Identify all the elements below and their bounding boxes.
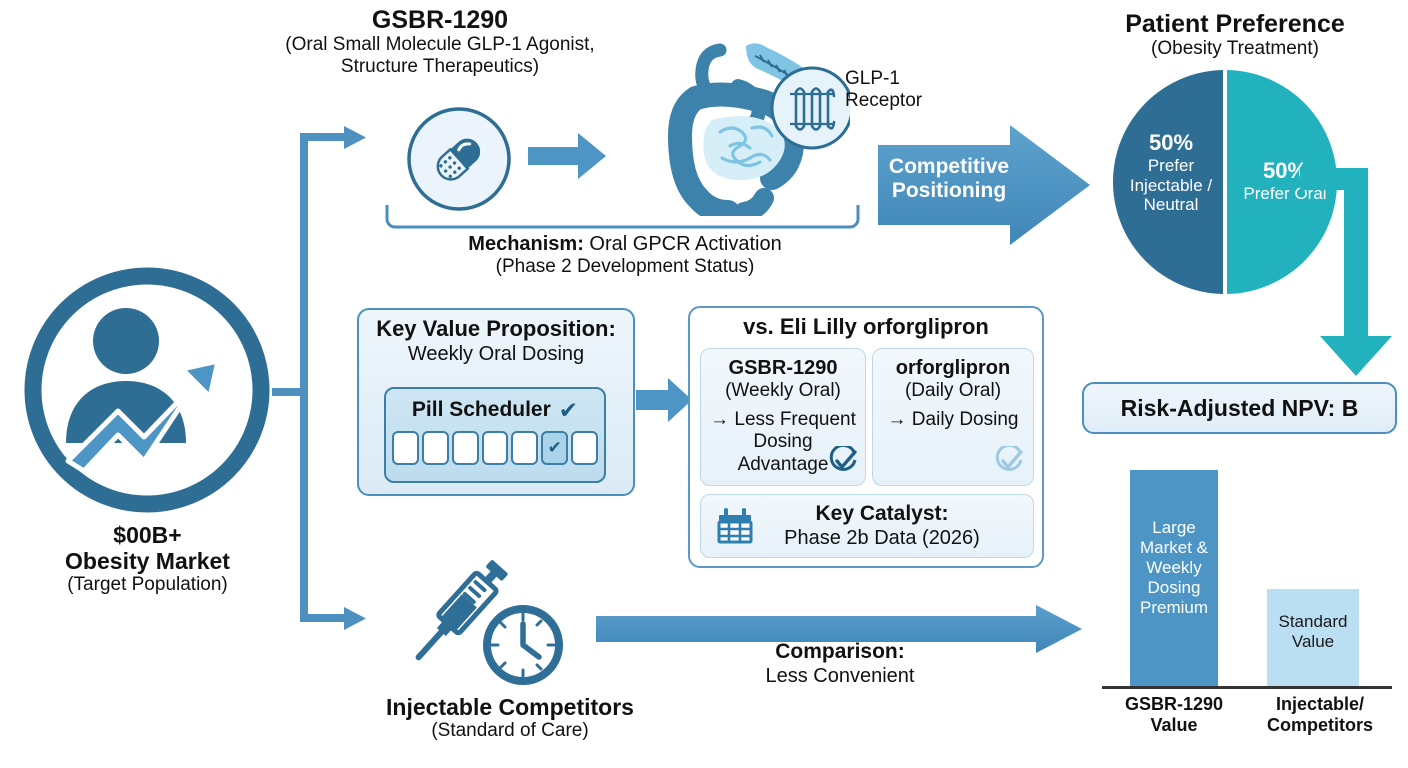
- positioning-line1: Competitive: [884, 155, 1014, 179]
- catalyst-detail: Phase 2b Data (2026): [765, 527, 999, 550]
- competitors-title: Injectable Competitors: [320, 694, 700, 720]
- person-growth-icon: [22, 265, 272, 515]
- drug-header: GSBR-1290 (Oral Small Molecule GLP-1 Ago…: [240, 6, 640, 78]
- bar-injectable-label: Standard Value: [1265, 612, 1361, 652]
- card-orfo-name: orforglipron: [873, 357, 1033, 380]
- pill-scheduler-label: Pill Scheduler: [412, 398, 551, 422]
- key-catalyst-strip: Key Catalyst: Phase 2b Data (2026): [700, 494, 1034, 558]
- market-title: Obesity Market: [5, 548, 290, 574]
- bar-gsbr-line-2: Weekly: [1132, 558, 1216, 578]
- connector-branch-top: [304, 133, 346, 141]
- value-prop-heading: Key Value Proposition: Weekly Oral Dosin…: [362, 316, 630, 366]
- bar-gsbr-label: Large Market & Weekly Dosing Premium: [1132, 518, 1216, 618]
- pie-title: Patient Preference: [1090, 10, 1380, 38]
- card-orfo-detail: → Daily Dosing: [873, 409, 1033, 431]
- pie-label-injectable: 50% Prefer Injectable / Neutral: [1119, 130, 1223, 215]
- bar-category-gsbr: GSBR-1290 Value: [1104, 694, 1244, 735]
- check-circle-muted-icon: [994, 446, 1024, 476]
- mechanism-caption: Mechanism: Oral GPCR Activation (Phase 2…: [380, 232, 870, 278]
- infographic-canvas: $00B+ Obesity Market (Target Population)…: [0, 0, 1408, 768]
- mechanism-bracket: [385, 205, 860, 229]
- scheduler-day-4[interactable]: [511, 431, 538, 465]
- bar-injectable-line-1: Value: [1265, 632, 1361, 652]
- scheduler-day-0[interactable]: [392, 431, 419, 465]
- pie-cap-injectable: Prefer Injectable / Neutral: [1119, 156, 1223, 216]
- market-subtitle: (Target Population): [5, 574, 290, 596]
- comparison-title: vs. Eli Lilly orforglipron: [693, 314, 1039, 340]
- mechanism-arrow: [528, 133, 606, 179]
- calendar-icon: [715, 506, 755, 546]
- pill-scheduler-week[interactable]: ✔: [386, 431, 604, 465]
- drug-title: GSBR-1290: [240, 6, 640, 34]
- pie-chart-header: Patient Preference (Obesity Treatment): [1090, 10, 1380, 60]
- value-prop-subtitle: Weekly Oral Dosing: [362, 342, 630, 366]
- receptor-label-line2: Receptor: [845, 90, 955, 112]
- scheduler-day-3[interactable]: [482, 431, 509, 465]
- connector-branch-bottom: [304, 614, 346, 622]
- mechanism-bold: Mechanism:: [468, 233, 584, 255]
- mechanism-sub: (Phase 2 Development Status): [380, 256, 870, 278]
- bar-category-injectable: Injectable/ Competitors: [1244, 694, 1396, 735]
- scheduler-day-2[interactable]: [452, 431, 479, 465]
- connector-trunk-lower: [300, 388, 308, 622]
- pill-scheduler-widget[interactable]: Pill Scheduler ✔ ✔: [384, 387, 606, 483]
- card-gsbr-name: GSBR-1290: [701, 357, 865, 380]
- capsule-pill-icon: [405, 105, 513, 213]
- bar-gsbr-line-3: Dosing: [1132, 578, 1216, 598]
- bar-injectable-line-0: Standard: [1265, 612, 1361, 632]
- competitive-positioning-label: Competitive Positioning: [884, 155, 1014, 204]
- bar-cat-gsbr-line-1: Value: [1104, 715, 1244, 736]
- check-circle-icon: [828, 446, 858, 476]
- npv-label: Risk-Adjusted NPV: B: [1121, 395, 1359, 422]
- npv-flow-arrow: [1300, 168, 1404, 380]
- pie-pct-injectable: 50%: [1119, 130, 1223, 156]
- bar-cat-gsbr-line-0: GSBR-1290: [1104, 694, 1244, 715]
- obesity-market-circle: [22, 265, 272, 515]
- connector-arrow-top: [344, 122, 374, 153]
- scheduler-day-5[interactable]: ✔: [541, 431, 568, 465]
- drug-subtitle-1: (Oral Small Molecule GLP-1 Agonist,: [240, 34, 640, 56]
- market-value: $00B+: [5, 522, 290, 548]
- value-prop-title: Key Value Proposition:: [362, 316, 630, 342]
- scheduler-day-check-icon: ✔: [548, 438, 562, 458]
- competitors-subtitle: (Standard of Care): [320, 720, 700, 742]
- injectable-competitors-caption: Injectable Competitors (Standard of Care…: [320, 694, 700, 742]
- card-orfo-modality: (Daily Oral): [873, 380, 1033, 402]
- drug-subtitle-2: Structure Therapeutics): [240, 56, 640, 78]
- bar-gsbr-line-4: Premium: [1132, 598, 1216, 618]
- pill-scheduler-check-icon: ✔: [559, 397, 578, 424]
- bar-gsbr-line-0: Large: [1132, 518, 1216, 538]
- bar-cat-inj-line-0: Injectable/: [1244, 694, 1396, 715]
- receptor-label-line1: GLP-1: [845, 68, 955, 90]
- receptor-label: GLP-1 Receptor: [845, 68, 955, 112]
- card-gsbr-modality: (Weekly Oral): [701, 380, 865, 402]
- pie-subtitle: (Obesity Treatment): [1090, 38, 1380, 60]
- catalyst-title: Key Catalyst:: [765, 502, 999, 526]
- scheduler-day-6[interactable]: [571, 431, 598, 465]
- risk-adjusted-npv-box: Risk-Adjusted NPV: B: [1082, 382, 1397, 434]
- bar-chart-axis: [1102, 686, 1392, 689]
- comparison-bold: Comparison:: [700, 640, 980, 665]
- bar-cat-inj-line-1: Competitors: [1244, 715, 1396, 736]
- digestive-system-icon: [660, 36, 850, 216]
- bar-gsbr-line-1: Market &: [1132, 538, 1216, 558]
- connector-arrow-bottom: [344, 603, 374, 634]
- value-to-comparison-arrow: [636, 378, 692, 422]
- obesity-market-caption: $00B+ Obesity Market (Target Population): [5, 522, 290, 596]
- mechanism-rest: Oral GPCR Activation: [584, 233, 782, 255]
- pie-divider: [1223, 70, 1227, 294]
- positioning-line2: Positioning: [884, 179, 1014, 203]
- scheduler-day-1[interactable]: [422, 431, 449, 465]
- comparison-arrow-caption: Comparison: Less Convenient: [700, 640, 980, 688]
- comparison-rest: Less Convenient: [700, 665, 980, 689]
- connector-trunk-upper: [300, 133, 308, 395]
- clock-icon: [478, 600, 568, 690]
